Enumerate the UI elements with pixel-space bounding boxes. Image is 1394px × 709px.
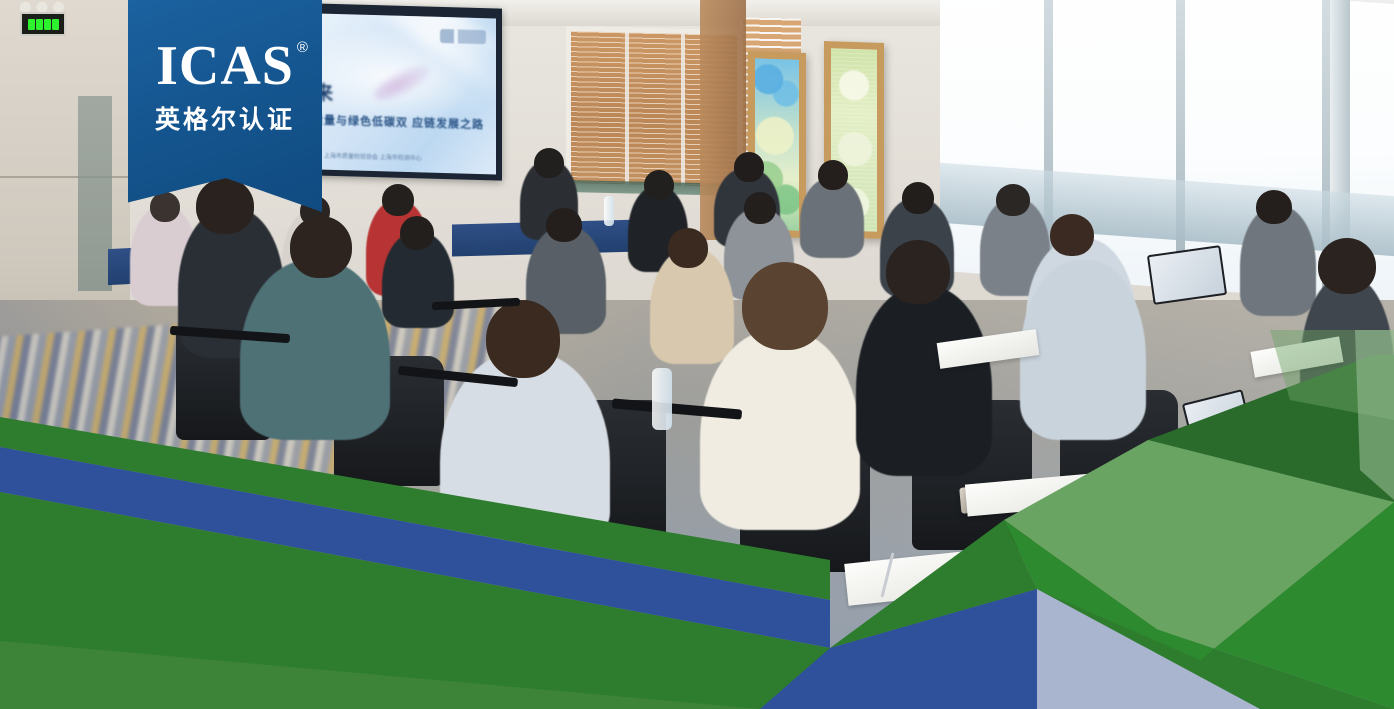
registered-mark-icon: ®	[297, 40, 309, 55]
slide-logo-icon	[440, 29, 486, 44]
icas-logo: ICAS ® 英格尔认证	[128, 38, 322, 136]
icas-chinese-name: 英格尔认证	[128, 100, 322, 136]
attendee-head	[150, 192, 180, 222]
attendee-head	[400, 216, 434, 250]
screen-light-streak	[334, 14, 496, 106]
attendee	[800, 178, 864, 258]
attendee-front	[856, 286, 992, 476]
attendee-head	[1318, 238, 1376, 294]
attendee-head	[196, 178, 254, 234]
attendee-head	[290, 216, 352, 278]
attendee-head	[886, 240, 950, 304]
water-bottle	[604, 196, 614, 226]
screen-highlight-blob	[370, 59, 435, 106]
attendee-head	[644, 170, 674, 200]
attendee-head	[996, 184, 1030, 216]
attendee-head	[734, 152, 764, 182]
attendee-head	[534, 148, 564, 178]
attendee-front	[700, 330, 860, 530]
icas-wordmark-text: ICAS	[156, 35, 294, 97]
attendee-head	[742, 262, 828, 350]
attendee-head	[902, 182, 934, 214]
water-bottle	[652, 368, 672, 430]
attendee-head	[818, 160, 848, 190]
banner-canvas: 来 质量与绿色低碳双 应链发展之路 上海市质量检验协会 上海市检测中心	[0, 0, 1394, 709]
attendee-front	[440, 352, 610, 552]
attendee-head	[1256, 190, 1292, 224]
door-panel	[78, 96, 112, 291]
attendee-head	[486, 300, 560, 378]
slide-footnote: 上海市质量检验协会 上海市检测中心	[324, 153, 422, 165]
projection-screen: 来 质量与绿色低碳双 应链发展之路 上海市质量检验协会 上海市检测中心	[318, 14, 496, 175]
exit-sign-icon	[20, 12, 66, 36]
attendee-front	[240, 260, 390, 440]
attendee-head	[668, 228, 708, 268]
attendee-head	[546, 208, 582, 242]
tablet-device	[1147, 245, 1227, 305]
attendee-head	[382, 184, 414, 216]
attendee-head	[744, 192, 776, 224]
attendee-head	[1050, 214, 1094, 256]
slide-subtitle: 质量与绿色低碳双 应链发展之路	[318, 112, 484, 133]
icas-wordmark: ICAS ®	[156, 38, 294, 94]
emergency-lamps-icon	[16, 0, 68, 12]
attendee-front	[1020, 260, 1146, 440]
